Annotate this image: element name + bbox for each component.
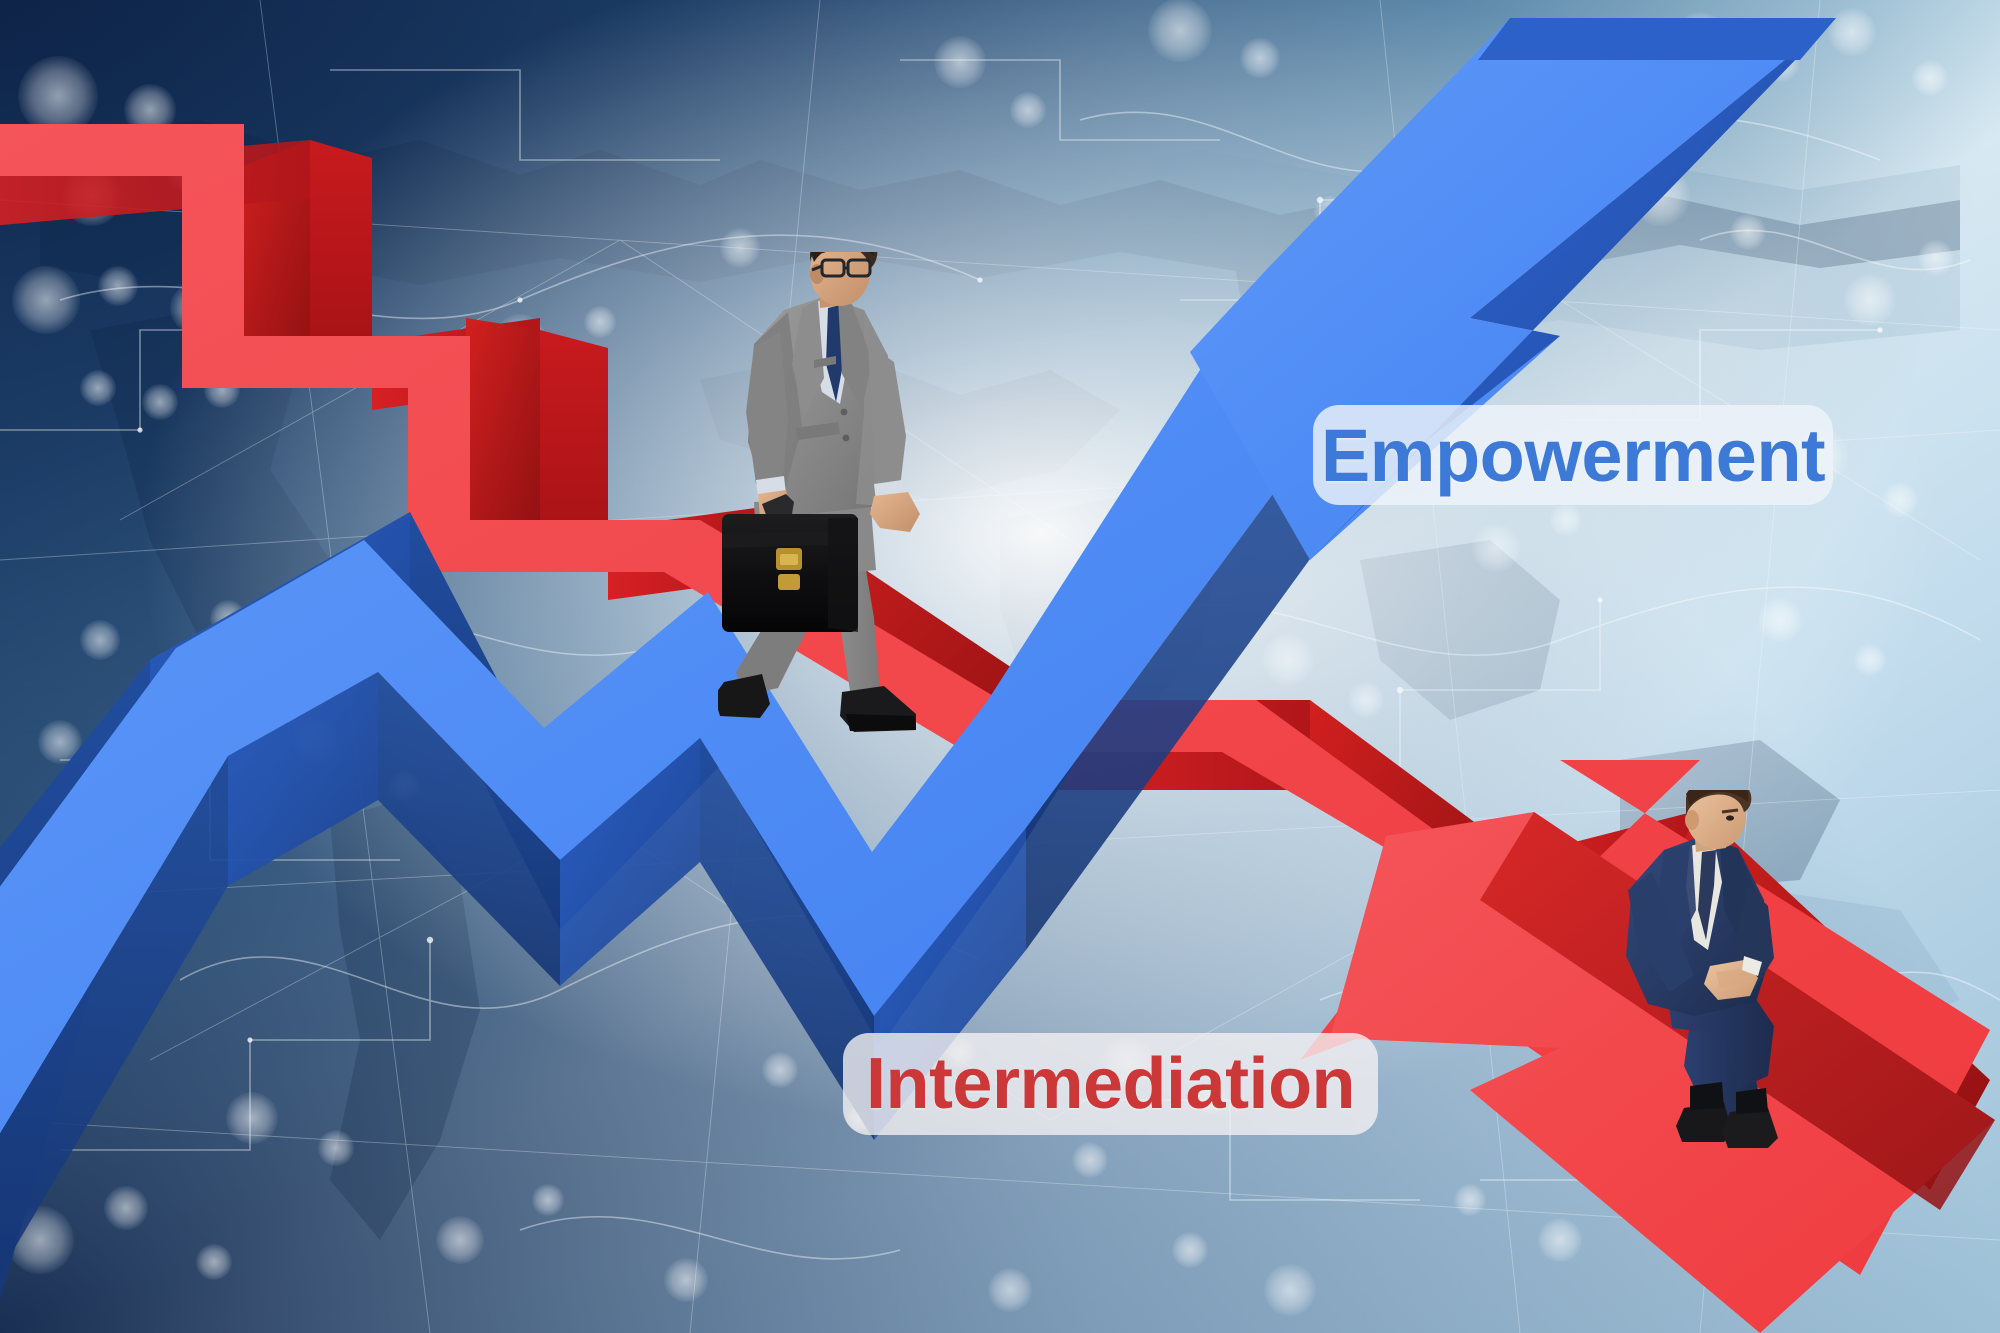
blue-arrow-top-faces	[0, 292, 1366, 1290]
shoe-back	[718, 674, 770, 718]
briefcase	[722, 494, 858, 632]
businessman-walking-up	[718, 252, 948, 762]
label-intermediation: Intermediation	[843, 1033, 1378, 1135]
label-empowerment: Empowerment	[1313, 405, 1833, 505]
scene-canvas: Empowerment Intermediation	[0, 0, 2000, 1333]
hand-right	[870, 492, 920, 532]
